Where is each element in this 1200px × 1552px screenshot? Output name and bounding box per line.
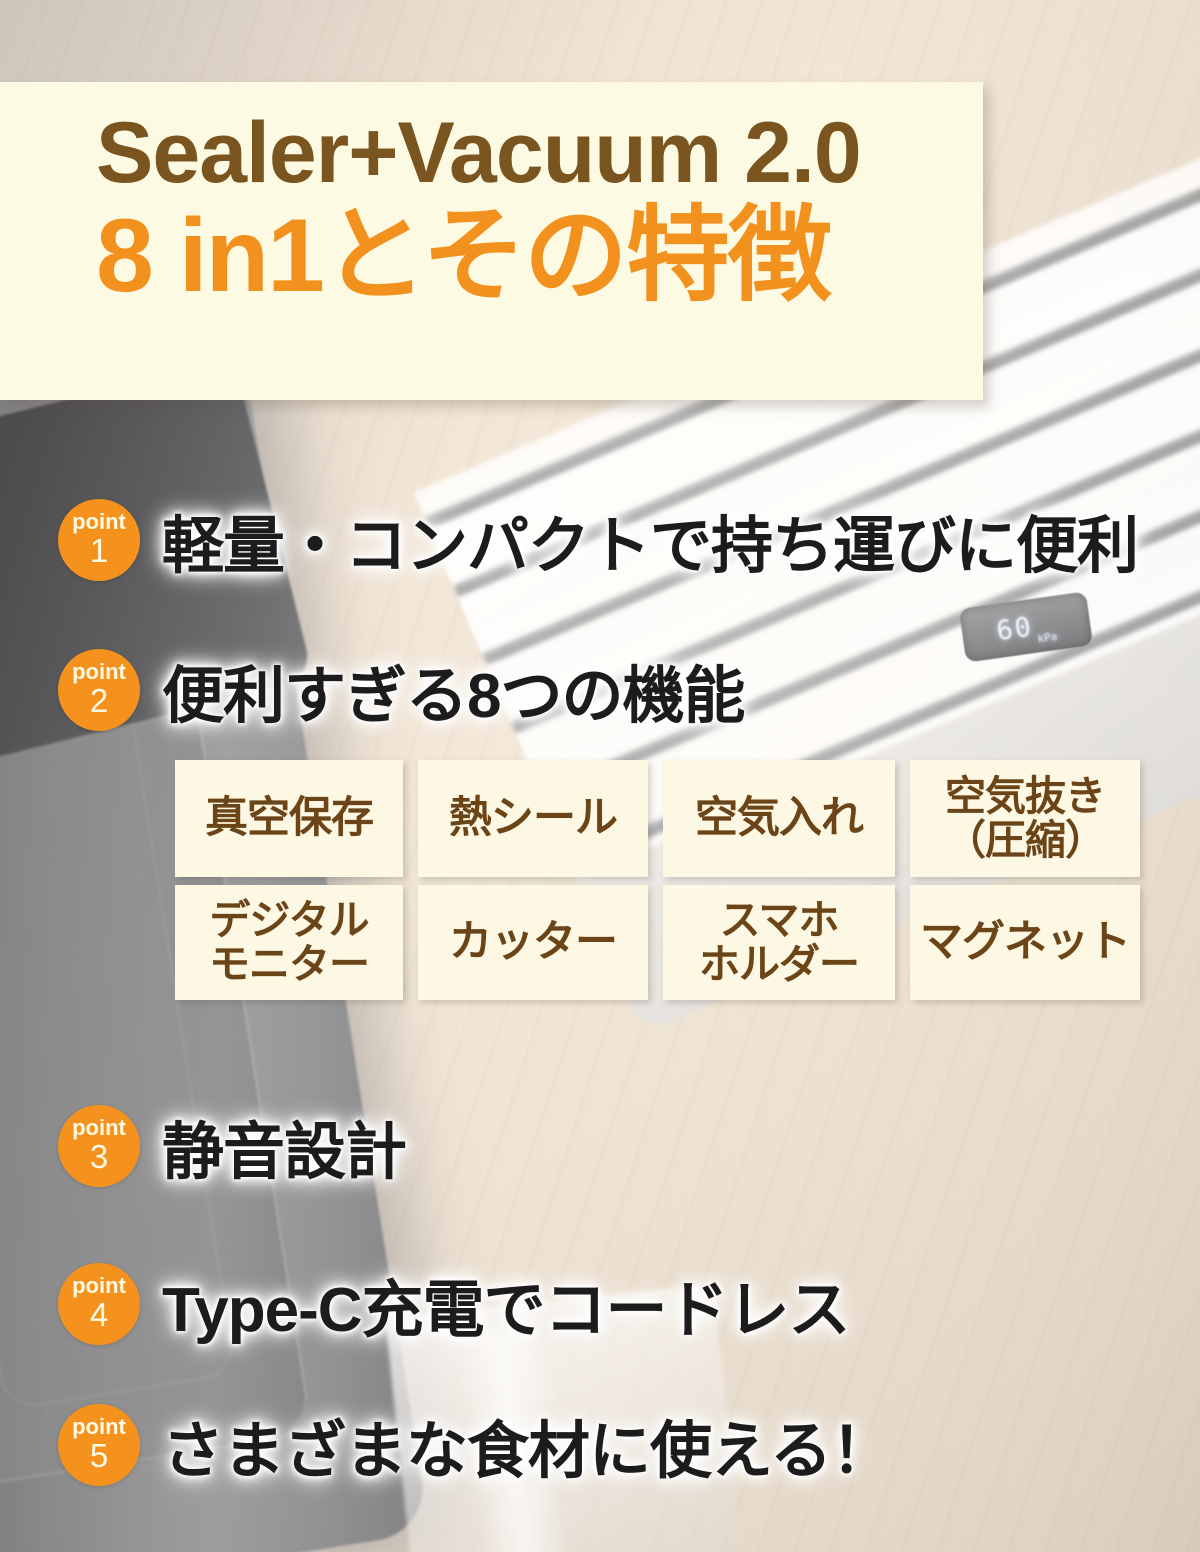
feature-grid: 真空保存 熱シール 空気入れ 空気抜き （圧縮） デジタル モニター カッター … (175, 760, 1140, 1000)
feature-label-line1: 熱シール (449, 796, 617, 842)
badge-number-3: 3 (90, 1140, 108, 1175)
point-row-1: point 1 軽量・コンパクトで持ち運びに便利 (58, 495, 1138, 585)
feature-box-air-extract: 空気抜き （圧縮） (910, 760, 1140, 877)
product-feature-infographic: 60 kPa Sealer+Vacuum 2.0 8 in1とその特徴 poin… (0, 0, 1200, 1552)
point-text-5: さまざまな食材に使える！ (162, 1400, 892, 1490)
badge-word-label: point (72, 661, 126, 683)
badge-word-label: point (72, 1117, 126, 1139)
feature-label-line1: 空気抜き (945, 775, 1105, 818)
point-badge-2: point 2 (58, 649, 140, 731)
badge-number-4: 4 (90, 1298, 108, 1333)
point-text-3: 静音設計 (162, 1101, 406, 1191)
feature-label-line1: 空気入れ (695, 796, 863, 842)
point-row-2: point 2 便利すぎる8つの機能 (58, 645, 744, 735)
feature-box-smartphone-holder: スマホ ホルダー (663, 885, 895, 1000)
badge-word-label: point (72, 1416, 126, 1438)
feature-box-digital-monitor: デジタル モニター (175, 885, 403, 1000)
point-row-5: point 5 さまざまな食材に使える！ (58, 1400, 892, 1490)
feature-box-air-inflate: 空気入れ (663, 760, 895, 877)
point-badge-4: point 4 (58, 1263, 140, 1345)
feature-label-line2: ホルダー (699, 943, 859, 986)
point-text-2: 便利すぎる8つの機能 (162, 645, 744, 735)
badge-number-1: 1 (90, 534, 108, 569)
point-badge-1: point 1 (58, 499, 140, 581)
feature-box-cutter: カッター (418, 885, 648, 1000)
feature-label-line2: モニター (209, 943, 369, 986)
feature-label-line1: スマホ (699, 899, 859, 942)
point-badge-3: point 3 (58, 1105, 140, 1187)
feature-box-vacuum-storage: 真空保存 (175, 760, 403, 877)
badge-word-label: point (72, 1275, 126, 1297)
badge-number-5: 5 (90, 1439, 108, 1474)
product-name-title: Sealer+Vacuum 2.0 (0, 110, 983, 198)
feature-box-heat-seal: 熱シール (418, 760, 648, 877)
point-row-3: point 3 静音設計 (58, 1101, 406, 1191)
feature-label-line1: 真空保存 (205, 796, 373, 842)
point-text-1: 軽量・コンパクトで持ち運びに便利 (162, 495, 1138, 585)
feature-label-line2: （圧縮） (945, 819, 1105, 862)
title-banner: Sealer+Vacuum 2.0 8 in1とその特徴 (0, 82, 983, 400)
feature-label-line1: カッター (449, 920, 617, 966)
point-row-4: point 4 Type-C充電でコードレス (58, 1259, 850, 1349)
badge-number-2: 2 (90, 684, 108, 719)
feature-label-line1: デジタル (209, 899, 369, 942)
feature-box-magnet: マグネット (910, 885, 1140, 1000)
point-badge-5: point 5 (58, 1404, 140, 1486)
badge-word-label: point (72, 511, 126, 533)
feature-label-line1: マグネット (920, 920, 1130, 966)
point-text-4: Type-C充電でコードレス (162, 1259, 850, 1349)
headline-subtitle: 8 in1とその特徴 (0, 202, 983, 311)
